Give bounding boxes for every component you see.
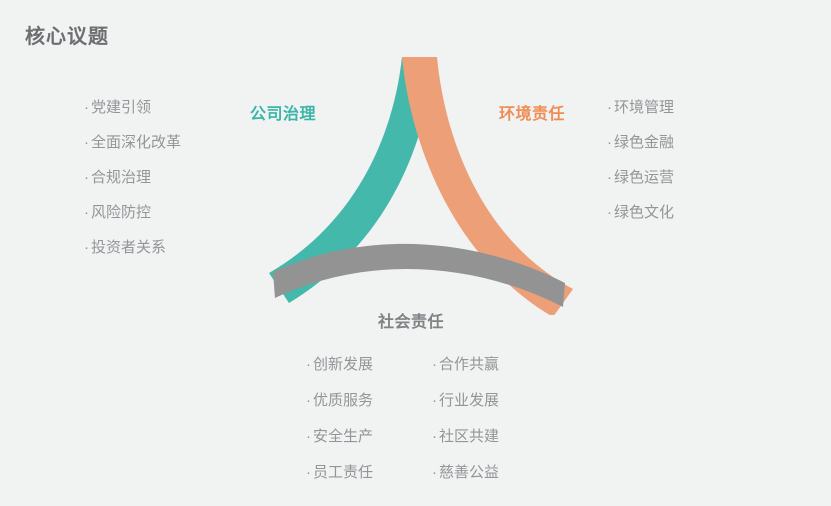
list-item: ·全面深化改革 [84,135,181,150]
list-item: ·绿色运营 [607,170,674,185]
pillar-heading-environment: 环境责任 [499,100,565,124]
list-item: ·环境管理 [607,100,674,115]
bullet-icon: · [607,204,612,221]
social-item-list-left: ·创新发展 ·优质服务 ·安全生产 ·员工责任 [306,357,373,501]
list-item: ·社区共建 [432,429,499,444]
list-item-label: 行业发展 [439,392,499,409]
governance-item-list: ·党建引领 ·全面深化改革 ·合规治理 ·风险防控 ·投资者关系 [84,100,181,255]
list-item: ·合规治理 [84,170,181,185]
list-item-label: 绿色运营 [614,169,674,186]
list-item-label: 党建引领 [91,99,151,116]
social-item-list-right: ·合作共赢 ·行业发展 ·社区共建 ·慈善公益 [432,357,499,501]
slide-canvas: 核心议题 公司治理 环境责任 社会责任 ·党建引领 ·全面深化改革 ·合规治理 … [0,0,831,506]
list-item: ·安全生产 [306,429,373,444]
list-item-label: 合规治理 [91,169,151,186]
bullet-icon: · [306,356,311,373]
bullet-icon: · [306,392,311,409]
list-item-label: 慈善公益 [439,464,499,481]
list-item-label: 全面深化改革 [91,134,181,151]
bullet-icon: · [306,428,311,445]
list-item-label: 社区共建 [439,428,499,445]
environment-item-list: ·环境管理 ·绿色金融 ·绿色运营 ·绿色文化 [607,100,674,220]
bullet-icon: · [607,99,612,116]
pillar-heading-social: 社会责任 [378,308,444,332]
list-item-label: 绿色金融 [614,134,674,151]
bullet-icon: · [84,204,89,221]
list-item-label: 环境管理 [614,99,674,116]
list-item-label: 合作共赢 [439,356,499,373]
bullet-icon: · [607,169,612,186]
list-item-label: 投资者关系 [91,239,166,256]
list-item: ·合作共赢 [432,357,499,372]
list-item-label: 绿色文化 [614,204,674,221]
bullet-icon: · [84,99,89,116]
bullet-icon: · [432,464,437,481]
list-item: ·风险防控 [84,205,181,220]
bullet-icon: · [432,356,437,373]
bullet-icon: · [84,134,89,151]
list-item: ·绿色金融 [607,135,674,150]
three-pillar-tripod-diagram [255,45,585,315]
list-item: ·党建引领 [84,100,181,115]
list-item: ·绿色文化 [607,205,674,220]
list-item: ·优质服务 [306,393,373,408]
pillar-heading-governance: 公司治理 [250,100,316,124]
list-item: ·员工责任 [306,465,373,480]
bullet-icon: · [607,134,612,151]
list-item: ·行业发展 [432,393,499,408]
page-title: 核心议题 [25,20,109,49]
list-item-label: 优质服务 [313,392,373,409]
list-item: ·创新发展 [306,357,373,372]
bullet-icon: · [84,239,89,256]
bullet-icon: · [432,392,437,409]
list-item: ·投资者关系 [84,240,181,255]
list-item: ·慈善公益 [432,465,499,480]
bullet-icon: · [432,428,437,445]
list-item-label: 风险防控 [91,204,151,221]
bullet-icon: · [84,169,89,186]
list-item-label: 创新发展 [313,356,373,373]
bullet-icon: · [306,464,311,481]
list-item-label: 安全生产 [313,428,373,445]
list-item-label: 员工责任 [313,464,373,481]
